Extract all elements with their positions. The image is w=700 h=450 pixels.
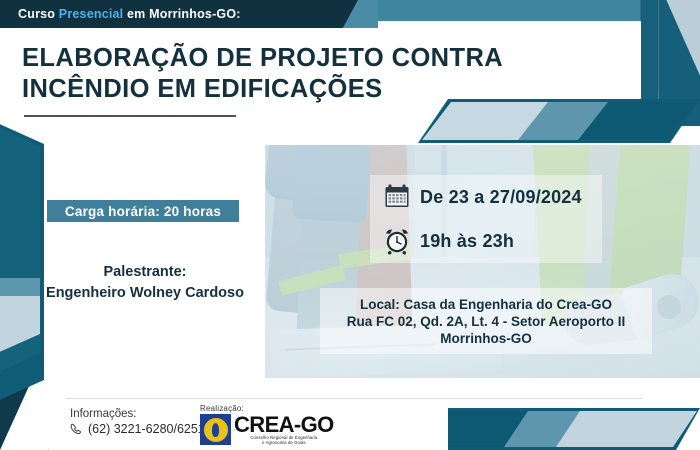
speaker-name: Engenheiro Wolney Cardoso xyxy=(20,283,270,304)
date-row: De 23 a 27/09/2024 xyxy=(370,175,602,219)
phone-row[interactable]: (62) 3221-6280/6251 xyxy=(70,422,205,436)
calendar-icon xyxy=(382,182,412,212)
date-time-box: De 23 a 27/09/2024 19h às 23h xyxy=(370,175,602,263)
contact-info: Informações: (62) 3221-6280/6251 xyxy=(70,408,205,436)
page-title: ELABORAÇÃO DE PROJETO CONTRA INCÊNDIO EM… xyxy=(22,43,632,105)
location-box: Local: Casa da Engenharia do Crea-GO Rua… xyxy=(320,288,652,354)
location-line-2: Rua FC 02, Qd. 2A, Lt. 4 - Setor Aeropor… xyxy=(347,313,626,330)
logo-row: CREA-GO Conselho Regional de Engenharia … xyxy=(200,414,334,445)
logo-text-block: CREA-GO Conselho Regional de Engenharia … xyxy=(234,414,334,445)
alarm-clock-icon xyxy=(382,226,412,256)
time-row: 19h às 23h xyxy=(370,219,602,263)
crea-seal-figure xyxy=(212,423,219,437)
phone-icon xyxy=(70,423,83,436)
top-bar-suffix: em Morrinhos-GO: xyxy=(123,7,240,21)
poster-canvas: Curso Presencial em Morrinhos-GO: ELABOR… xyxy=(0,0,700,450)
top-bar-highlight: Presencial xyxy=(59,7,124,21)
course-date: De 23 a 27/09/2024 xyxy=(420,187,582,208)
location-line-3: Morrinhos-GO xyxy=(440,330,532,347)
crea-go-logo: Realização: CREA-GO Conselho Regional de… xyxy=(200,404,334,445)
top-bar-title: Curso Presencial em Morrinhos-GO: xyxy=(18,0,241,28)
speaker-label: Palestrante: xyxy=(20,262,270,283)
decorative-banner xyxy=(418,99,700,143)
crea-seal-icon xyxy=(200,414,231,445)
bottom-right-chevron xyxy=(448,408,700,450)
crea-seal-circle xyxy=(202,416,230,444)
top-teal-bar xyxy=(360,0,650,21)
logo-subtitle-2: e Agronomia de Goiás xyxy=(234,440,334,445)
bottom-right-light-segment xyxy=(556,411,697,447)
speaker-block: Palestrante: Engenheiro Wolney Cardoso xyxy=(20,262,270,304)
phone-number: (62) 3221-6280/6251 xyxy=(88,422,205,436)
contact-label: Informações: xyxy=(70,408,205,420)
logo-wordmark: CREA-GO xyxy=(234,414,334,435)
workload-badge: Carga horária: 20 horas xyxy=(47,200,239,222)
course-time: 19h às 23h xyxy=(420,231,514,252)
title-underline xyxy=(24,115,236,117)
top-bar-prefix: Curso xyxy=(18,7,59,21)
location-line-1: Local: Casa da Engenharia do Crea-GO xyxy=(360,296,612,313)
